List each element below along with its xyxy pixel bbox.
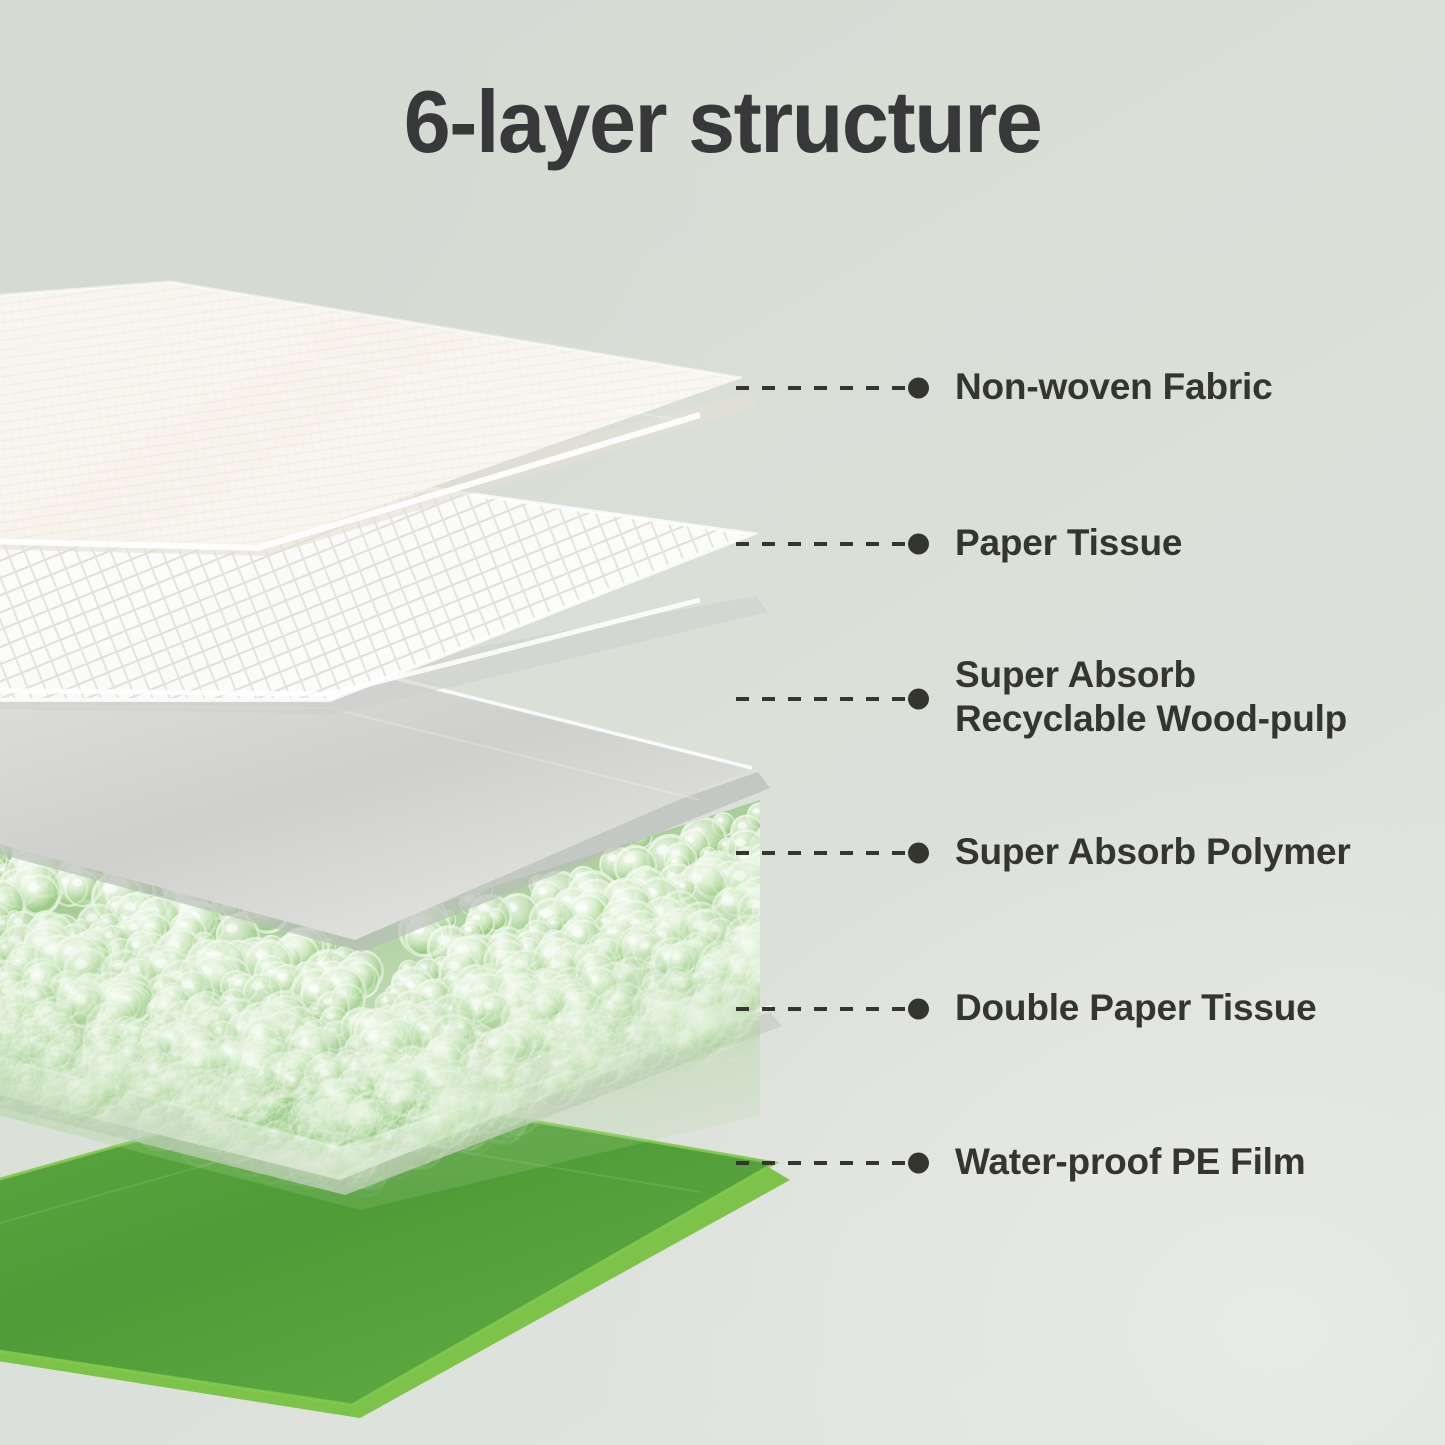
leader-dot-6 <box>908 1153 929 1174</box>
leader-line-4 <box>736 851 912 855</box>
leader-line-6 <box>736 1161 912 1165</box>
callout-label-line: Recyclable Wood-pulp <box>955 697 1445 741</box>
callout-label-1: Non-woven Fabric <box>955 365 1273 409</box>
page-title: 6-layer structure <box>29 78 1416 166</box>
leader-dot-5 <box>908 999 929 1020</box>
leader-line-2 <box>736 542 912 546</box>
callout-label-line: Paper Tissue <box>955 521 1182 565</box>
leader-line-1 <box>736 386 912 390</box>
non-woven-fabric-layer <box>0 282 760 556</box>
leader-dot-1 <box>908 378 929 399</box>
leader-dot-2 <box>908 534 929 555</box>
leader-line-3 <box>736 697 912 701</box>
callout-label-line: Non-woven Fabric <box>955 365 1273 409</box>
callout-label-line: Double Paper Tissue <box>955 986 1317 1030</box>
infographic-canvas: 6-layer structure Non-woven FabricPaper … <box>0 0 1445 1445</box>
callout-label-3: Super AbsorbRecyclable Wood-pulp <box>955 653 1445 741</box>
callout-label-line: Super Absorb <box>955 653 1445 697</box>
callout-label-2: Paper Tissue <box>955 521 1182 565</box>
callout-label-5: Double Paper Tissue <box>955 986 1317 1030</box>
callout-label-4: Super Absorb Polymer <box>955 830 1351 874</box>
callout-label-line: Water-proof PE Film <box>955 1140 1305 1184</box>
callout-label-6: Water-proof PE Film <box>955 1140 1305 1184</box>
callout-label-line: Super Absorb Polymer <box>955 830 1351 874</box>
leader-dot-3 <box>908 689 929 710</box>
leader-line-5 <box>736 1007 912 1011</box>
leader-dot-4 <box>908 843 929 864</box>
